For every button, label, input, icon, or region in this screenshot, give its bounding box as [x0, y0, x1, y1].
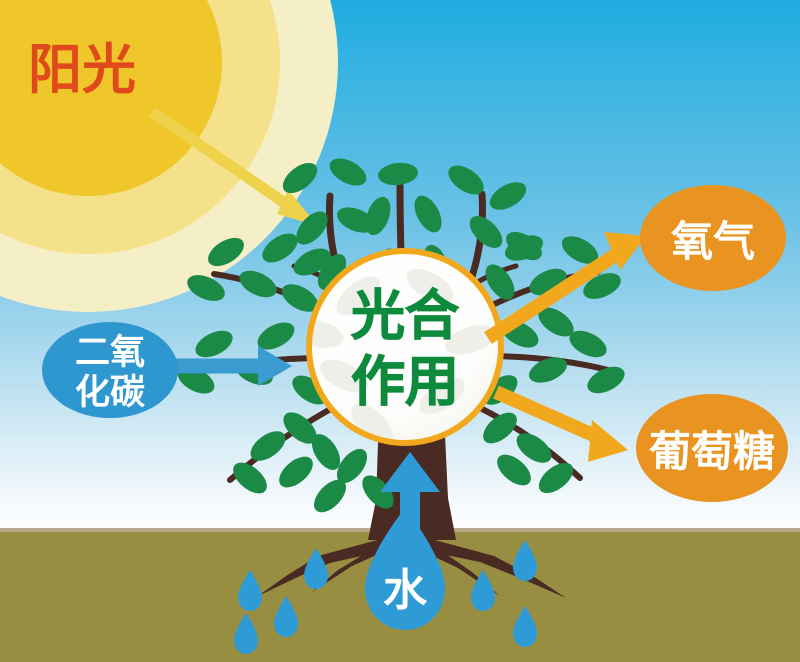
sunlight-label: 阳光 — [28, 38, 136, 101]
core-label-line1: 光合 — [351, 284, 459, 347]
carbon-dioxide-label-line2: 化碳 — [75, 373, 146, 413]
core-label-line2: 作用 — [351, 350, 459, 413]
water-label: 水 — [383, 565, 428, 616]
carbon-dioxide-bubble[interactable]: 二氧 化碳 — [42, 322, 178, 418]
oxygen-bubble[interactable]: 氧气 — [640, 185, 786, 291]
glucose-label: 葡萄糖 — [649, 427, 775, 476]
oxygen-label: 氧气 — [671, 217, 755, 266]
diagram-canvas: 光合 作用 阳光 二氧 化碳 氧气 葡 — [0, 0, 800, 662]
photosynthesis-diagram: 光合 作用 阳光 二氧 化碳 氧气 葡 — [0, 0, 800, 662]
glucose-bubble[interactable]: 葡萄糖 — [636, 394, 788, 502]
carbon-dioxide-label-line1: 二氧 — [75, 333, 145, 373]
